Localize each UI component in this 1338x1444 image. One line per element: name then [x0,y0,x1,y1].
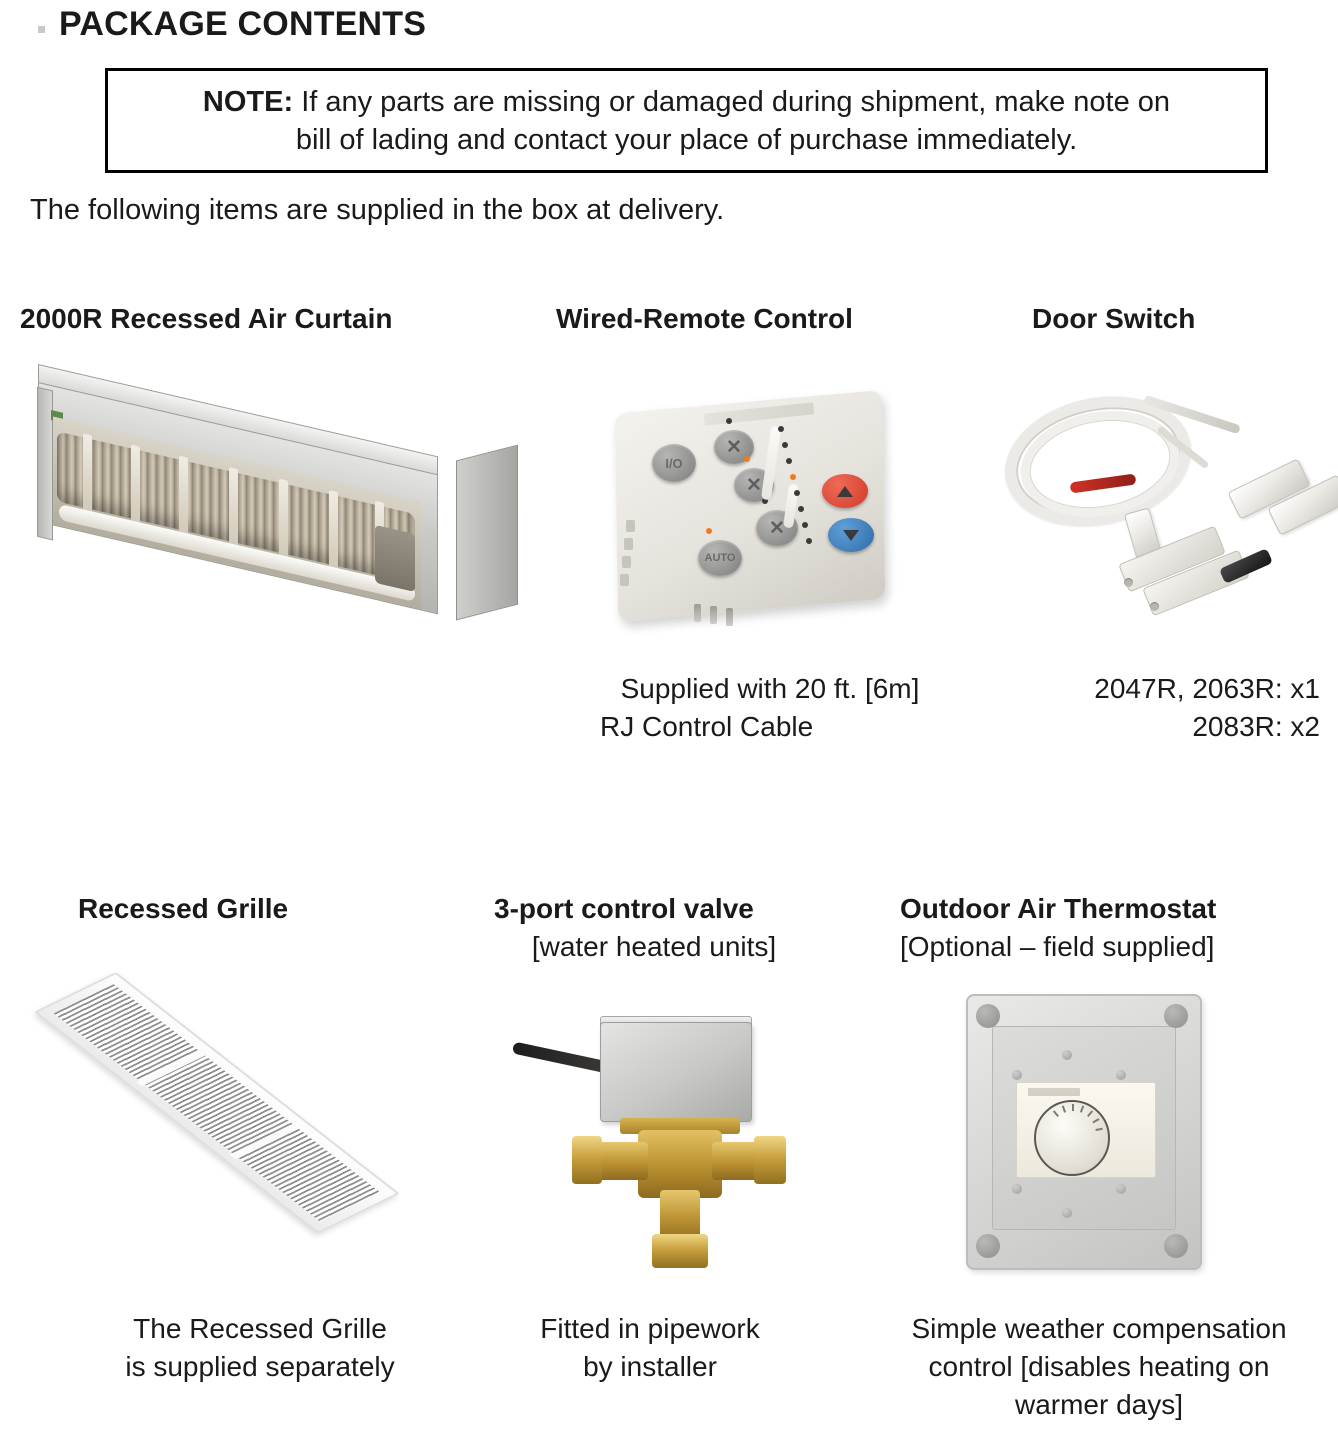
remote-side-rib-3 [622,556,631,568]
package-item-outdoor-thermostat: Outdoor Air Thermostat [Optional – field… [900,893,1320,963]
page-section-heading: PACKAGE CONTENTS [38,5,426,44]
door-switch-screw-hole-2 [1150,602,1159,611]
valve-brass-body [638,1130,722,1198]
door-switch-screw-hole-1 [1124,578,1133,587]
remote-side-rib-2 [624,538,633,550]
thermostat-corner-screw-bl [976,1234,1000,1258]
three-port-control-valve-photo [510,990,810,1280]
caption-outdoor-thermostat: Simple weather compensation control [dis… [860,1310,1338,1424]
caption-outdoor-thermostat-line-1: Simple weather compensation [860,1310,1338,1348]
square-bullet-icon [38,26,45,33]
remote-vent-2 [710,606,717,624]
item-subtitle-outdoor-thermostat: [Optional – field supplied] [900,931,1320,963]
remote-scale-led-7 [802,522,808,528]
item-title-control-valve: 3-port control valve [494,893,854,925]
caption-door-switch: 2047R, 2063R: x1 2083R: x2 [940,670,1320,746]
remote-led-fan-medium [744,456,750,462]
caption-control-valve-line-1: Fitted in pipework [440,1310,860,1348]
remote-auto-button[interactable]: AUTO [698,540,742,576]
note-label: NOTE: [203,86,293,118]
package-item-recessed-grille: Recessed Grille [78,893,438,925]
item-title-air-curtain: 2000R Recessed Air Curtain [20,303,500,335]
caption-recessed-grille-line-1: The Recessed Grille [50,1310,470,1348]
caption-recessed-grille-line-2: is supplied separately [50,1348,470,1386]
thermostat-screw-right-bottom [1116,1184,1126,1194]
caption-door-switch-line-1: 2047R, 2063R: x1 [940,670,1320,708]
intro-paragraph: The following items are supplied in the … [30,194,724,227]
recessed-grille-photo [120,968,465,1268]
thermostat-corner-screw-br [1164,1234,1188,1258]
remote-scale-led-3 [786,458,792,464]
caption-wired-remote-line-2: RJ Control Cable [560,708,980,746]
page-title: PACKAGE CONTENTS [59,5,426,44]
note-line-1: NOTE: If any parts are missing or damage… [203,83,1170,121]
package-item-wired-remote: Wired-Remote Control [556,303,936,335]
remote-scale-led-4 [790,474,796,480]
remote-temp-up-button[interactable] [822,474,868,508]
remote-scale-led-6 [798,506,804,512]
thermostat-screw-right-top [1116,1070,1126,1080]
thermostat-brand-label [1028,1088,1080,1096]
wired-remote-control-photo: I/O ✕ ✕ ✕ AUTO [600,388,920,658]
valve-nut-bottom [652,1234,708,1268]
thermostat-screw-left-top [1012,1070,1022,1080]
caption-outdoor-thermostat-line-3: warmer days] [860,1386,1338,1424]
thermostat-corner-screw-tr [1164,1004,1188,1028]
item-title-door-switch: Door Switch [1032,303,1332,335]
remote-temp-down-button[interactable] [828,518,874,552]
door-switch-photo [992,392,1322,642]
valve-cable [512,1042,614,1075]
note-text-line-1: If any parts are missing or damaged duri… [293,86,1170,118]
valve-actuator-head [600,1022,752,1122]
package-item-control-valve: 3-port control valve [water heated units… [494,893,854,963]
item-title-wired-remote: Wired-Remote Control [556,303,936,335]
valve-port-left [594,1142,648,1180]
remote-scale-led-2 [782,442,788,448]
thermostat-corner-screw-tl [976,1004,1000,1028]
note-text-line-2: bill of lading and contact your place of… [296,121,1077,159]
item-title-outdoor-thermostat: Outdoor Air Thermostat [900,893,1320,925]
note-callout-box: NOTE: If any parts are missing or damage… [105,68,1268,173]
remote-vent-3 [726,608,733,626]
remote-side-rib-4 [620,574,629,586]
item-title-recessed-grille: Recessed Grille [78,893,438,925]
valve-nut-left [572,1136,602,1184]
package-item-door-switch: Door Switch [1032,303,1332,335]
package-item-air-curtain: 2000R Recessed Air Curtain [20,303,500,335]
remote-scale-led-5 [794,490,800,496]
remote-power-button[interactable]: I/O [652,444,696,482]
caption-control-valve-line-2: by installer [440,1348,860,1386]
caption-door-switch-line-2: 2083R: x2 [940,708,1320,746]
remote-side-rib-1 [626,520,635,532]
thermostat-temperature-dial[interactable] [1034,1100,1110,1176]
caption-control-valve: Fitted in pipework by installer [440,1310,860,1386]
caption-recessed-grille: The Recessed Grille is supplied separate… [50,1310,470,1386]
remote-scale-led-8 [806,538,812,544]
remote-led-auto [706,528,712,534]
valve-nut-right [754,1136,786,1184]
caption-wired-remote-line-1: Supplied with 20 ft. [6m] [560,670,980,708]
caption-outdoor-thermostat-line-2: control [disables heating on [860,1348,1338,1386]
thermostat-screw-top [1062,1050,1072,1060]
remote-scale-led-1 [778,426,784,432]
item-subtitle-control-valve: [water heated units] [494,931,814,963]
thermostat-screw-left-bottom [1012,1184,1022,1194]
caption-wired-remote: Supplied with 20 ft. [6m] RJ Control Cab… [560,670,980,746]
air-curtain-photo [20,358,490,648]
outdoor-air-thermostat-photo [958,988,1213,1278]
remote-led-fan-high [726,418,732,424]
remote-vent-1 [694,604,701,622]
thermostat-screw-bottom [1062,1208,1072,1218]
